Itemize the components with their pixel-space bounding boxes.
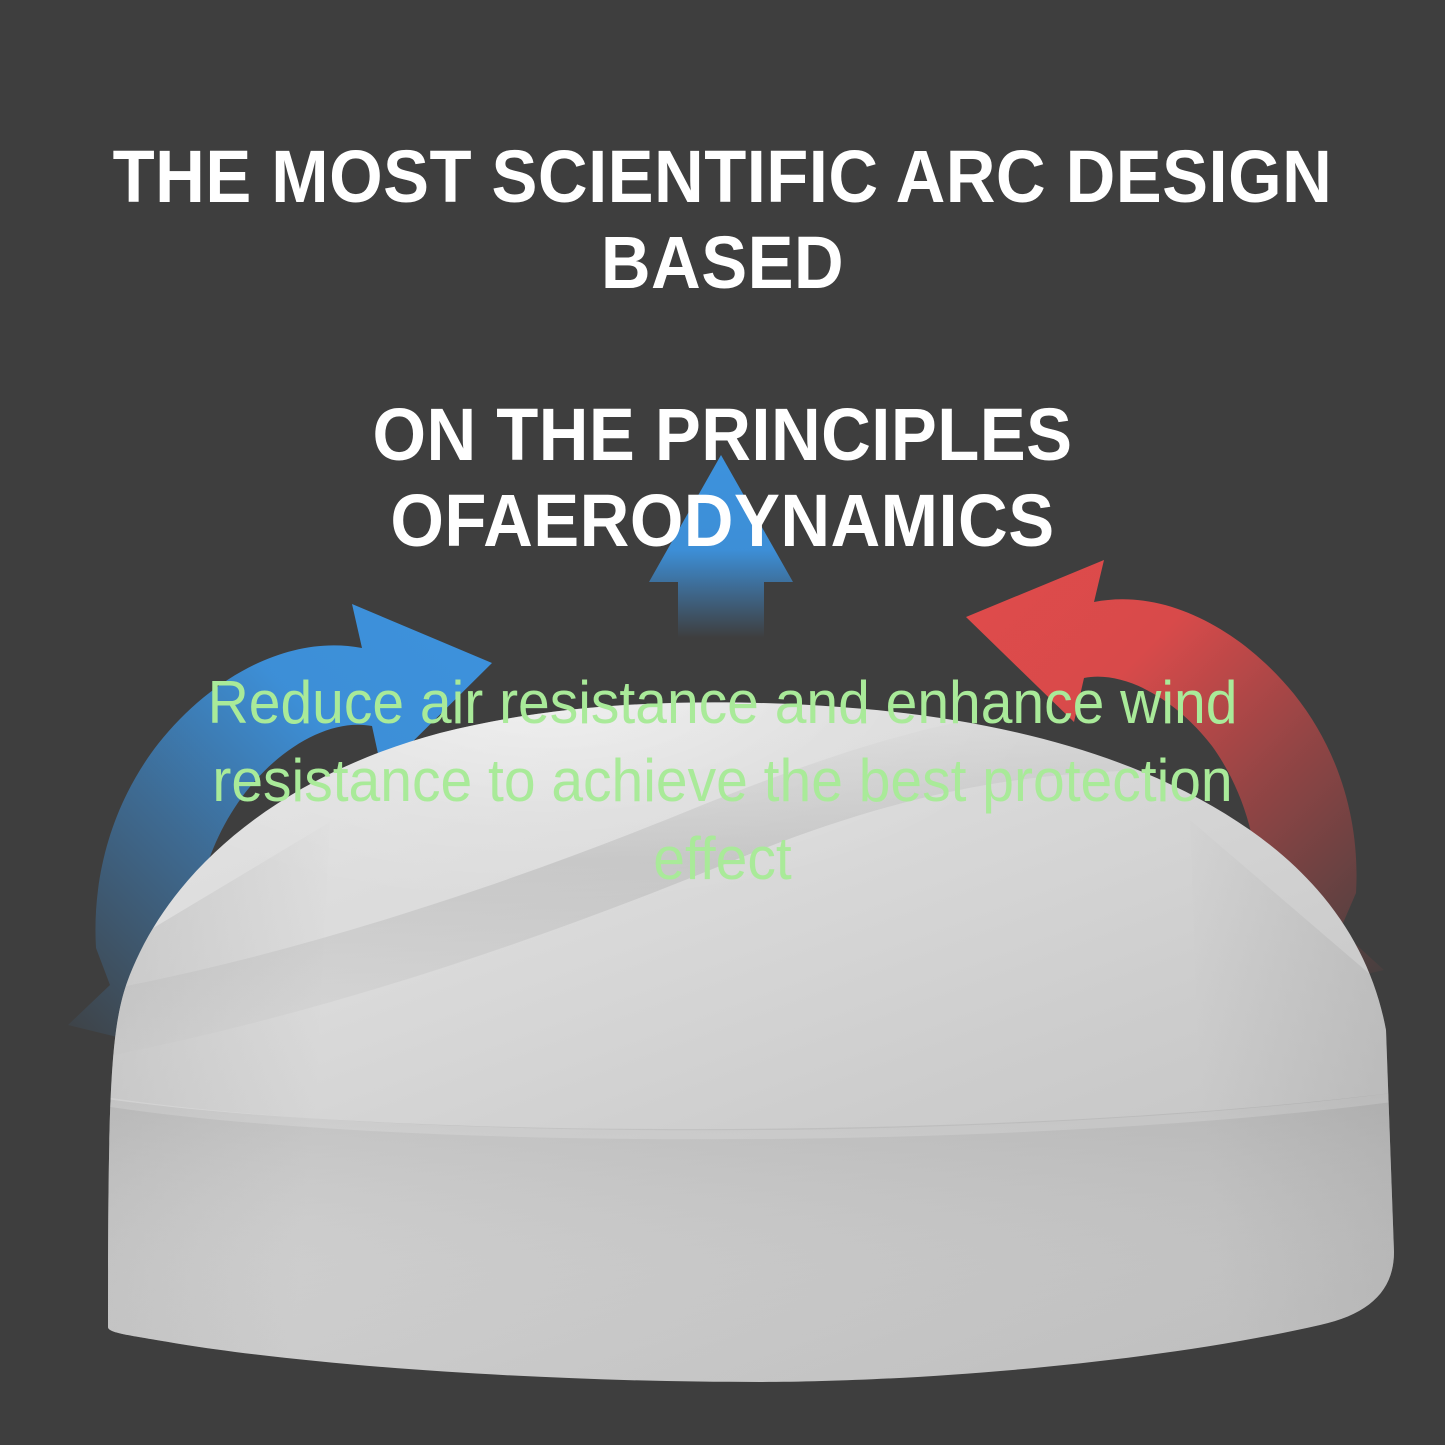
page-subtitle: Reduce air resistance and enhance wind r… bbox=[36, 650, 1409, 898]
headline-line-2: ON THE PRINCIPLES OFAERODYNAMICS bbox=[77, 392, 1369, 564]
cover-skirt-shading bbox=[80, 1092, 1400, 1410]
headline-line-1: THE MOST SCIENTIFIC ARC DESIGN BASED bbox=[77, 134, 1369, 306]
text-block: THE MOST SCIENTIFIC ARC DESIGN BASED ON … bbox=[0, 0, 1445, 898]
subhead-line-1: Reduce air resistance and enhance wind bbox=[141, 664, 1305, 742]
aerodynamics-infographic: THE MOST SCIENTIFIC ARC DESIGN BASED ON … bbox=[0, 0, 1445, 1445]
page-title: THE MOST SCIENTIFIC ARC DESIGN BASED ON … bbox=[51, 0, 1395, 650]
subhead-line-2: resistance to achieve the best protectio… bbox=[141, 742, 1305, 898]
